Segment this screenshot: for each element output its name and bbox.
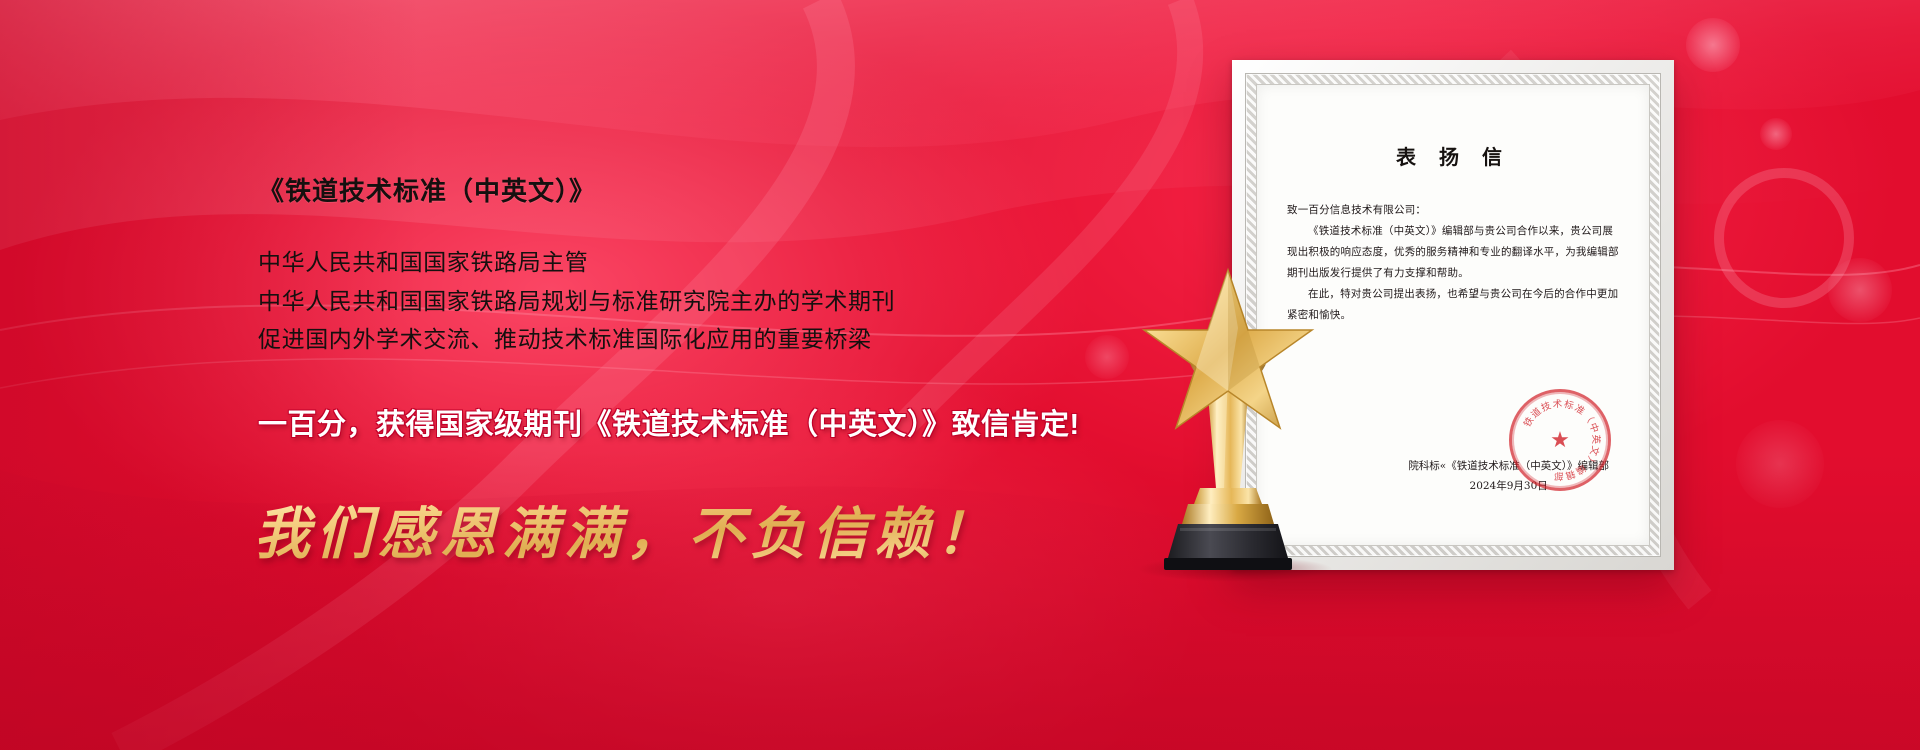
certificate-paragraph: 《铁道技术标准（中英文）》编辑部与贵公司合作以来，贵公司展现出积极的响应态度，优… xyxy=(1287,221,1619,284)
headline-award: 一百分，获得国家级期刊《铁道技术标准（中英文）》致信肯定! xyxy=(258,401,1158,443)
certificate-signature: 院科标«《铁道技术标准（中英文）》编辑部 2024年9月30日 xyxy=(1408,457,1609,497)
star-trophy-icon xyxy=(1128,252,1328,572)
certificate-paragraph: 在此，特对贵公司提出表扬，也希望与贵公司在今后的合作中更加紧密和愉快。 xyxy=(1287,284,1619,326)
body-line-1: 中华人民共和国国家铁路局主管 xyxy=(258,243,1158,282)
slogan-calligraphy: 我们感恩满满，不负信赖！ xyxy=(254,489,1158,570)
journal-title: 《铁道技术标准（中英文）》 xyxy=(258,176,1158,207)
body-line-2: 中华人民共和国国家铁路局规划与标准研究院主办的学术期刊 xyxy=(258,282,1158,321)
bokeh-circle xyxy=(1760,118,1792,150)
certificate-title: 表 扬 信 xyxy=(1287,141,1619,170)
bokeh-circle xyxy=(1686,18,1740,72)
banner-stage: 《铁道技术标准（中英文）》 中华人民共和国国家铁路局主管 中华人民共和国国家铁路… xyxy=(0,0,1920,750)
bokeh-circle xyxy=(1828,258,1892,322)
seal-star-icon: ★ xyxy=(1550,429,1570,451)
certificate-salutation: 致一百分信息技术有限公司： xyxy=(1287,200,1619,221)
certificate-signer: 院科标«《铁道技术标准（中英文）》编辑部 xyxy=(1408,457,1609,477)
text-column: 《铁道技术标准（中英文）》 中华人民共和国国家铁路局主管 中华人民共和国国家铁路… xyxy=(258,176,1158,570)
certificate-date: 2024年9月30日 xyxy=(1408,477,1609,497)
body-line-3: 促进国内外学术交流、推动技术标准国际化应用的重要桥梁 xyxy=(258,320,1158,359)
